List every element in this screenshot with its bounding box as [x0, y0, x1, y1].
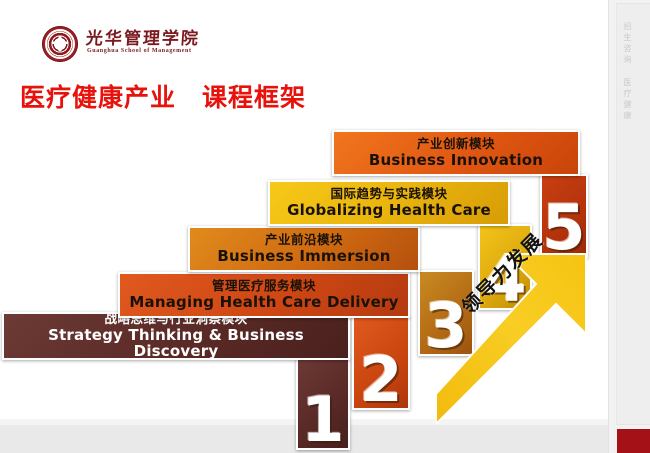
step-4-label-en: Globalizing Health Care	[287, 202, 491, 218]
step-riser-3	[418, 270, 474, 356]
step-3-label-cn: 产业前沿模块	[265, 234, 343, 248]
step-block-5[interactable]: 产业创新模块 Business Innovation	[332, 130, 580, 176]
step-1-label-en: Strategy Thinking & Business Discovery	[4, 327, 348, 359]
step-riser-2	[352, 316, 410, 410]
logo-english-name: Guanghua School of Management	[87, 48, 192, 54]
logo-chinese-name: 光华管理学院	[85, 24, 201, 49]
seal-glyph	[53, 36, 68, 51]
step-block-3[interactable]: 产业前沿模块 Business Immersion	[188, 226, 420, 272]
step-riser-1	[296, 358, 350, 450]
sidebar-accent-mark	[617, 429, 650, 453]
step-3-label-en: Business Immersion	[217, 248, 390, 264]
sidebar-vertical-text: 招生咨询 医疗健康	[622, 22, 633, 122]
step-2-label-en: Managing Health Care Delivery	[129, 294, 398, 310]
slide-canvas: 光华管理学院 Guanghua School of Management 医疗健…	[0, 0, 608, 453]
right-sidebar: 招生咨询 医疗健康	[608, 0, 650, 453]
step-2-label-cn: 管理医疗服务模块	[212, 280, 316, 294]
step-5-label-en: Business Innovation	[369, 152, 543, 168]
step-block-2[interactable]: 管理医疗服务模块 Managing Health Care Delivery	[118, 272, 410, 318]
page-title: 医疗健康产业 课程框架	[20, 78, 306, 114]
step-block-1[interactable]: 战略思维与行业洞察模块 Strategy Thinking & Business…	[2, 312, 350, 360]
step-5-label-cn: 产业创新模块	[417, 138, 495, 152]
step-block-4[interactable]: 国际趋势与实践模块 Globalizing Health Care	[268, 180, 510, 226]
step-4-label-cn: 国际趋势与实践模块	[330, 188, 447, 202]
school-logo: 光华管理学院 Guanghua School of Management	[42, 24, 212, 66]
guanghua-seal-icon	[42, 26, 78, 62]
